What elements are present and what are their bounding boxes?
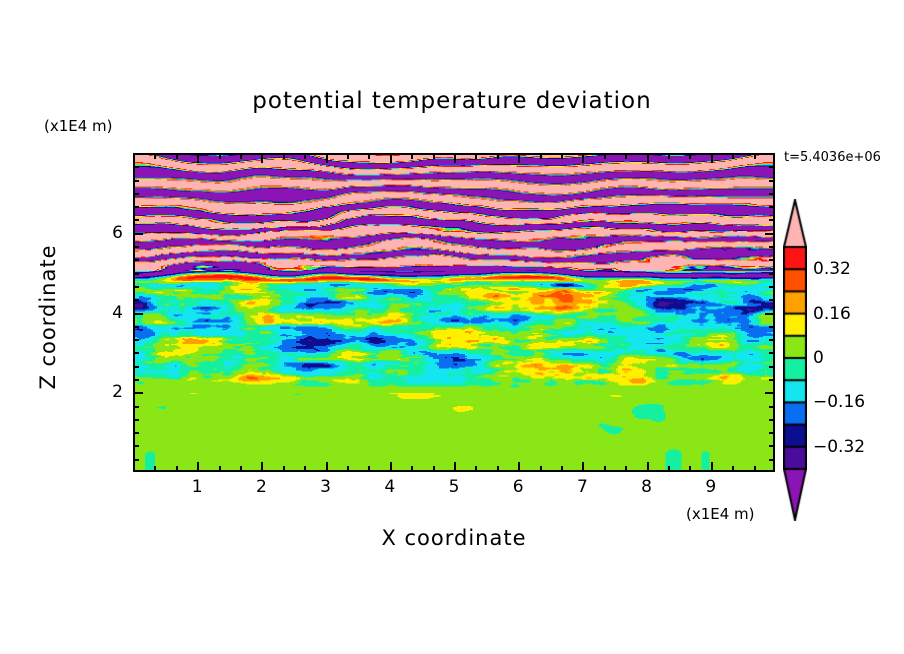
x-major-tick-top [390, 154, 392, 163]
x-minor-tick [754, 466, 756, 471]
y-minor-tick-right [769, 459, 774, 461]
y-minor-tick-right [769, 366, 774, 368]
x-minor-tick-top [540, 154, 542, 159]
x-minor-tick [176, 466, 178, 471]
x-minor-tick [368, 466, 370, 471]
y-minor-tick-right [769, 299, 774, 301]
page-title: potential temperature deviation [0, 88, 904, 114]
x-tick-label: 5 [449, 477, 460, 497]
y-minor-tick-right [769, 219, 774, 221]
x-minor-tick-top [411, 154, 413, 159]
x-minor-tick-top [475, 154, 477, 159]
y-tick-label: 4 [93, 303, 123, 323]
y-minor-tick [134, 246, 139, 248]
x-minor-tick-top [625, 154, 627, 159]
x-minor-tick-top [732, 154, 734, 159]
y-minor-tick [134, 166, 139, 168]
x-minor-tick [540, 466, 542, 471]
x-minor-tick [219, 466, 221, 471]
contour-field [135, 155, 773, 470]
x-minor-tick [604, 466, 606, 471]
x-minor-tick-top [754, 154, 756, 159]
x-tick-label: 3 [320, 477, 331, 497]
x-major-tick-top [261, 154, 263, 163]
x-tick-label: 6 [513, 477, 524, 497]
x-minor-tick [283, 466, 285, 471]
y-minor-tick-right [769, 193, 774, 195]
x-minor-tick [689, 466, 691, 471]
x-tick-label: 8 [641, 477, 652, 497]
x-minor-tick-top [604, 154, 606, 159]
y-minor-tick [134, 366, 139, 368]
y-minor-tick [134, 445, 139, 447]
colorbar-tick-label: −0.32 [813, 437, 865, 457]
y-minor-tick [134, 219, 139, 221]
x-minor-tick [561, 466, 563, 471]
x-major-tick-top [582, 154, 584, 163]
y-minor-tick [134, 193, 139, 195]
x-major-tick [197, 462, 199, 471]
x-minor-tick-top [497, 154, 499, 159]
x-minor-tick-top [668, 154, 670, 159]
x-axis-title: X coordinate [133, 526, 775, 550]
y-minor-tick [134, 180, 139, 182]
colorbar[interactable] [783, 199, 807, 521]
y-minor-tick-right [769, 379, 774, 381]
colorbar-tick-label: 0.32 [813, 259, 851, 279]
y-minor-tick [134, 259, 139, 261]
x-major-tick [518, 462, 520, 471]
x-minor-tick-top [304, 154, 306, 159]
y-minor-tick [134, 299, 139, 301]
y-minor-tick-right [769, 206, 774, 208]
y-minor-tick-right [769, 432, 774, 434]
y-minor-tick-right [769, 419, 774, 421]
x-minor-tick [497, 466, 499, 471]
y-minor-tick-right [769, 180, 774, 182]
y-minor-tick-right [769, 259, 774, 261]
x-major-tick [711, 462, 713, 471]
x-tick-label: 7 [577, 477, 588, 497]
x-minor-tick [625, 466, 627, 471]
y-tick-label: 6 [93, 223, 123, 243]
y-minor-tick [134, 459, 139, 461]
x-major-tick-top [711, 154, 713, 163]
x-minor-tick [240, 466, 242, 471]
x-minor-tick-top [561, 154, 563, 159]
x-major-tick-top [518, 154, 520, 163]
x-minor-tick-top [433, 154, 435, 159]
y-minor-tick [134, 406, 139, 408]
y-minor-tick [134, 339, 139, 341]
y-minor-tick [134, 273, 139, 275]
y-major-tick-right [765, 313, 774, 315]
x-minor-tick-top [154, 154, 156, 159]
colorbar-gradient [783, 199, 807, 521]
y-minor-tick-right [769, 406, 774, 408]
x-minor-tick-top [283, 154, 285, 159]
x-major-tick-top [454, 154, 456, 163]
x-minor-tick [475, 466, 477, 471]
x-tick-label: 9 [705, 477, 716, 497]
time-annotation: t=5.4036e+06 [784, 150, 881, 165]
y-axis-unit-label: (x1E4 m) [44, 117, 113, 135]
x-minor-tick-top [240, 154, 242, 159]
x-minor-tick [433, 466, 435, 471]
x-major-tick [326, 462, 328, 471]
x-minor-tick [304, 466, 306, 471]
y-minor-tick [134, 379, 139, 381]
x-major-tick [582, 462, 584, 471]
y-minor-tick-right [769, 339, 774, 341]
y-minor-tick-right [769, 326, 774, 328]
y-minor-tick-right [769, 286, 774, 288]
y-major-tick-right [765, 392, 774, 394]
y-major-tick-right [765, 233, 774, 235]
x-tick-label: 4 [384, 477, 395, 497]
x-tick-label: 1 [192, 477, 203, 497]
y-minor-tick [134, 206, 139, 208]
x-axis-unit-label: (x1E4 m) [686, 505, 755, 523]
x-minor-tick [154, 466, 156, 471]
x-major-tick-top [647, 154, 649, 163]
y-minor-tick-right [769, 166, 774, 168]
x-major-tick-top [197, 154, 199, 163]
x-minor-tick-top [347, 154, 349, 159]
colorbar-tick-label: 0 [813, 348, 824, 368]
x-minor-tick-top [689, 154, 691, 159]
x-major-tick [261, 462, 263, 471]
y-tick-label: 2 [93, 382, 123, 402]
x-minor-tick [347, 466, 349, 471]
x-major-tick [647, 462, 649, 471]
y-minor-tick [134, 326, 139, 328]
y-minor-tick [134, 352, 139, 354]
y-major-tick [134, 233, 143, 235]
y-minor-tick [134, 286, 139, 288]
x-minor-tick-top [176, 154, 178, 159]
x-minor-tick [668, 466, 670, 471]
plot-area [133, 153, 775, 472]
y-minor-tick [134, 419, 139, 421]
x-major-tick [454, 462, 456, 471]
y-minor-tick [134, 432, 139, 434]
y-axis-title: Z coordinate [36, 207, 60, 427]
y-major-tick [134, 392, 143, 394]
x-major-tick [390, 462, 392, 471]
y-minor-tick-right [769, 352, 774, 354]
x-major-tick-top [326, 154, 328, 163]
x-minor-tick [411, 466, 413, 471]
x-minor-tick-top [219, 154, 221, 159]
colorbar-tick-label: 0.16 [813, 304, 851, 324]
x-minor-tick [732, 466, 734, 471]
y-minor-tick-right [769, 246, 774, 248]
x-tick-label: 2 [256, 477, 267, 497]
y-minor-tick-right [769, 273, 774, 275]
x-minor-tick-top [368, 154, 370, 159]
y-major-tick [134, 313, 143, 315]
figure-canvas: potential temperature deviation (x1E4 m)… [0, 0, 904, 654]
y-minor-tick-right [769, 445, 774, 447]
colorbar-tick-label: −0.16 [813, 392, 865, 412]
